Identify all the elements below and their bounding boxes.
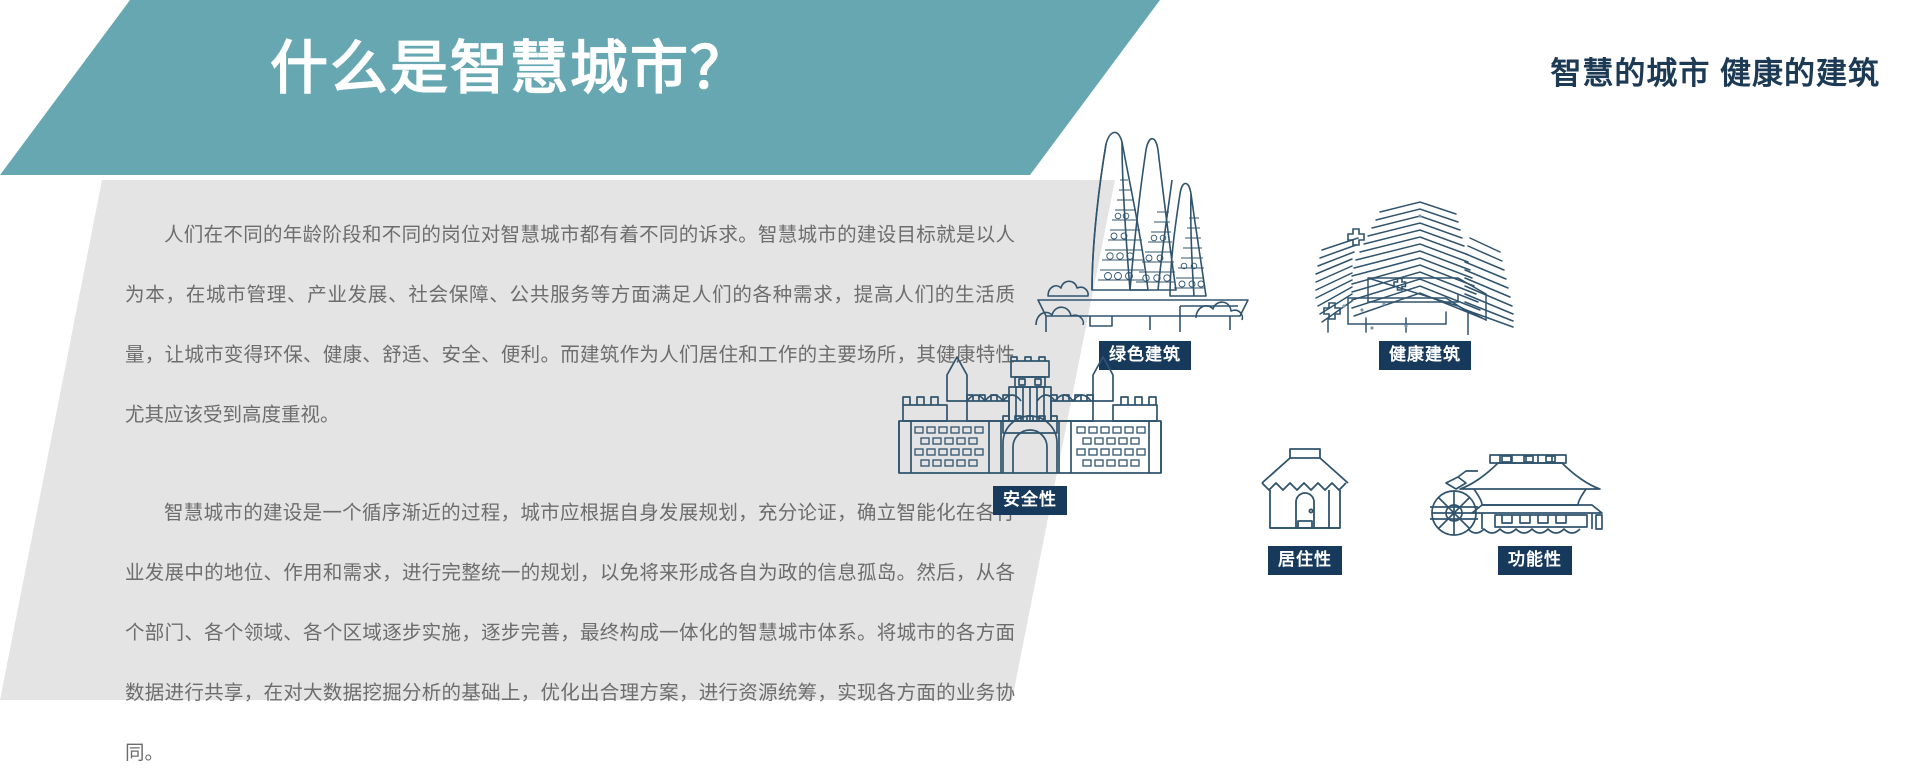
house-awning-icon xyxy=(1190,445,1420,540)
article-paragraph: 智慧城市的建设是一个循序渐近的过程，城市应根据自身发展规划，充分论证，确立智能化… xyxy=(125,483,1015,783)
illustration-label: 居住性 xyxy=(1268,546,1342,575)
illustration-safety[interactable]: 安全性 xyxy=(885,355,1175,515)
hospital-building-icon xyxy=(1310,190,1540,335)
illustration-functionality[interactable]: 功能性 xyxy=(1420,445,1650,575)
article-paragraph: 人们在不同的年龄阶段和不同的岗位对智慧城市都有着不同的诉求。智慧城市的建设目标就… xyxy=(125,205,1015,445)
illustration-label: 健康建筑 xyxy=(1379,341,1471,370)
illustration-label: 安全性 xyxy=(993,486,1067,515)
illustration-health-building[interactable]: 健康建筑 xyxy=(1310,190,1540,370)
twin-tower-green-building-icon xyxy=(1030,120,1260,335)
castle-fortress-icon xyxy=(885,355,1175,480)
illustration-livability[interactable]: 居住性 xyxy=(1190,445,1420,575)
article-body: 人们在不同的年龄阶段和不同的岗位对智慧城市都有着不同的诉求。智慧城市的建设目标就… xyxy=(125,205,1015,783)
header-tagline: 智慧的城市 健康的建筑 xyxy=(1550,48,1880,93)
illustration-green-building[interactable]: 绿色建筑 xyxy=(1030,120,1260,370)
pavilion-waterwheel-icon xyxy=(1420,445,1650,540)
page-title: 什么是智慧城市？ xyxy=(270,40,750,98)
illustration-label: 功能性 xyxy=(1498,546,1572,575)
illustration-area: 绿色建筑 xyxy=(1020,100,1920,700)
